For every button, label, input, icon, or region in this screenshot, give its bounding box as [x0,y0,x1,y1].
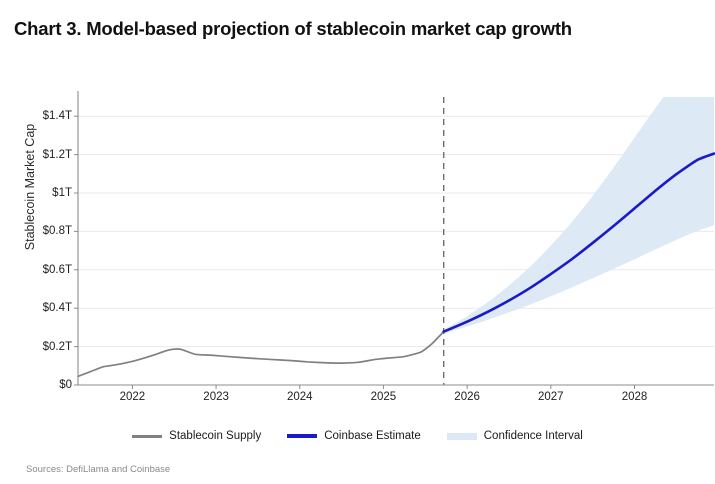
y-axis-tick-labels: $0$0.2T$0.4T$0.6T$0.8T$1T$1.2T$1.4T [24,0,72,484]
y-tick-label: $1T [28,187,72,199]
legend-item[interactable]: Stablecoin Supply [132,430,261,442]
x-tick-label: 2025 [353,391,413,403]
legend-label: Coinbase Estimate [324,430,421,442]
confidence-interval-band [444,36,714,334]
stablecoin-supply-line [78,332,444,377]
x-axis-ticks [132,385,634,389]
chart-card: Chart 3. Model-based projection of stabl… [0,0,715,484]
x-tick-label: 2026 [437,391,497,403]
legend-swatch [447,433,477,440]
legend-label: Stablecoin Supply [169,430,261,442]
y-tick-label: $0.8T [28,225,72,237]
y-tick-label: $0 [28,379,72,391]
chart-legend: Stablecoin SupplyCoinbase EstimateConfid… [0,430,715,442]
legend-swatch [287,434,317,438]
chart-canvas [0,0,715,484]
legend-item[interactable]: Coinbase Estimate [287,430,421,442]
y-tick-label: $0.2T [28,341,72,353]
x-tick-label: 2024 [270,391,330,403]
plot-area: Stablecoin Market Cap $0$0.2T$0.4T$0.6T$… [0,0,715,484]
legend-swatch [132,435,162,438]
source-note: Sources: DefiLlama and Coinbase [26,464,170,475]
confidence-band-area [444,36,714,334]
y-tick-label: $1.4T [28,110,72,122]
y-tick-label: $0.6T [28,264,72,276]
historical-supply-path [78,332,444,377]
legend-label: Confidence Interval [484,430,583,442]
legend-item[interactable]: Confidence Interval [447,430,583,442]
x-tick-label: 2023 [186,391,246,403]
y-tick-label: $1.2T [28,149,72,161]
x-tick-label: 2028 [605,391,665,403]
y-tick-label: $0.4T [28,302,72,314]
x-tick-label: 2027 [521,391,581,403]
x-tick-label: 2022 [102,391,162,403]
